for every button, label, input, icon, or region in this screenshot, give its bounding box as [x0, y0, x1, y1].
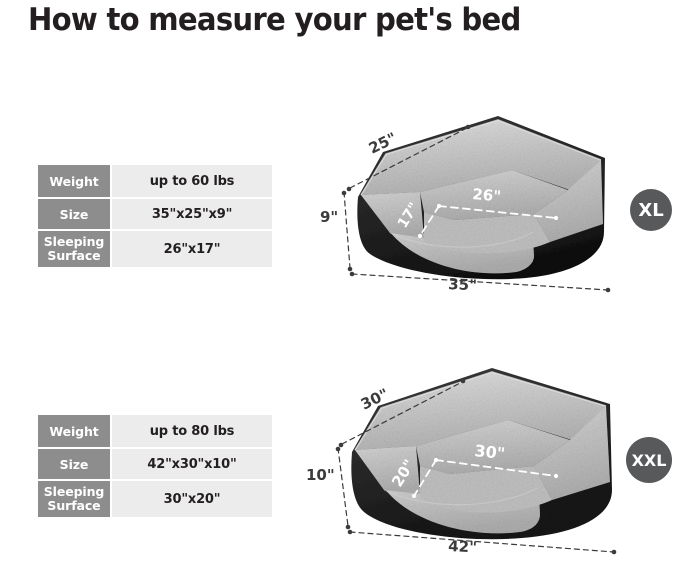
row-value: 42"x30"x10"	[112, 449, 272, 479]
row-value: up to 80 lbs	[112, 415, 272, 447]
row-label: Size	[38, 449, 110, 479]
table-row: Size 35"x25"x9"	[38, 199, 272, 229]
dim-label-inner-width: 30"	[474, 441, 506, 463]
row-label-line1: Sleeping	[44, 235, 105, 249]
row-label: Weight	[38, 165, 110, 197]
row-value: 30"x20"	[112, 481, 272, 517]
pet-bed-diagram-xxl: 30" 10" 42" 30" 20"	[296, 348, 626, 562]
table-row: Sleeping Surface 26"x17"	[38, 231, 272, 267]
row-label: Sleeping Surface	[38, 231, 110, 267]
row-label-line2: Surface	[47, 249, 100, 263]
row-value: 26"x17"	[112, 231, 272, 267]
dim-label-outer-height: 9"	[320, 208, 338, 226]
dim-label-inner-width: 26"	[472, 185, 502, 205]
size-badge-xxl: XXL	[626, 437, 672, 483]
dim-label-outer-height: 10"	[306, 466, 335, 484]
row-label: Size	[38, 199, 110, 229]
row-label: Weight	[38, 415, 110, 447]
dim-label-outer-width: 35"	[448, 275, 478, 294]
table-row: Size 42"x30"x10"	[38, 449, 272, 479]
dim-line-height	[344, 192, 350, 268]
page-title: How to measure your pet's bed	[28, 2, 630, 38]
row-value: up to 60 lbs	[112, 165, 272, 197]
row-value: 35"x25"x9"	[112, 199, 272, 229]
dim-label-outer-width: 42"	[448, 537, 478, 556]
table-row: Sleeping Surface 30"x20"	[38, 481, 272, 517]
row-label-line1: Sleeping	[44, 485, 105, 499]
size-badge-xl: XL	[630, 189, 672, 231]
spec-table-xl: Weight up to 60 lbs Size 35"x25"x9" Slee…	[38, 165, 272, 267]
pet-bed-diagram-xl: 25" 9" 35" 26" 17"	[320, 92, 620, 304]
row-label: Sleeping Surface	[38, 481, 110, 517]
page-root: How to measure your pet's bed Weight up …	[0, 0, 679, 562]
dim-line-height	[338, 448, 348, 526]
table-row: Weight up to 60 lbs	[38, 165, 272, 197]
table-row: Weight up to 80 lbs	[38, 415, 272, 447]
spec-table-xxl: Weight up to 80 lbs Size 42"x30"x10" Sle…	[38, 415, 272, 517]
row-label-line2: Surface	[47, 499, 100, 513]
